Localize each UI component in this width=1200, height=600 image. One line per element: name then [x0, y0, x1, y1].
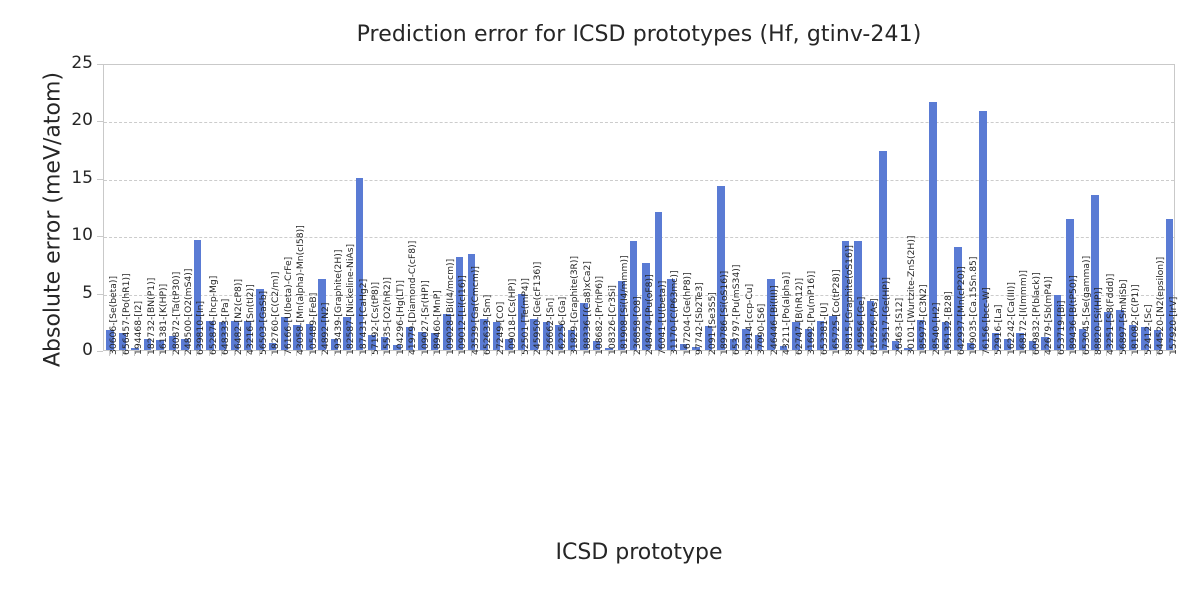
x-tick-mark	[421, 351, 422, 356]
x-tick-label: 189460-[MnP]	[433, 290, 442, 355]
x-tick-label: 161381-[K(HP)]	[159, 284, 168, 355]
x-tick-label: 30606-[Se(beta)]	[109, 276, 118, 355]
x-tick-label: 109028-[Bi(I4/mcm)]	[446, 259, 455, 355]
x-tick-mark	[633, 351, 634, 356]
x-tick-label: 88820-[Si(HP)]	[1094, 287, 1103, 355]
x-tick-label: 280872-[Ta(tP30)]	[172, 272, 181, 355]
y-tick-mark	[97, 351, 103, 352]
x-tick-mark	[196, 351, 197, 356]
x-tick-label: 26463-[S12]	[895, 298, 904, 355]
y-tick-label: 15	[33, 170, 93, 187]
x-tick-label: 653719-[Bi]	[1057, 301, 1066, 355]
x-tick-mark	[1019, 351, 1020, 356]
x-tick-label: 109027-[Sr(HP)]	[421, 280, 430, 355]
x-tick-mark	[122, 351, 123, 356]
x-tick-mark	[521, 351, 522, 356]
x-tick-mark	[496, 351, 497, 356]
x-tick-mark	[907, 351, 908, 356]
x-tick-mark	[483, 351, 484, 356]
x-axis-title: ICSD prototype	[103, 540, 1175, 565]
x-tick-mark	[620, 351, 621, 356]
x-tick-mark	[845, 351, 846, 356]
x-tick-mark	[259, 351, 260, 356]
x-tick-mark	[1169, 351, 1170, 356]
x-tick-mark	[708, 351, 709, 356]
x-tick-label: 248474-[Pu(oF8)]	[645, 274, 654, 355]
x-tick-label: 193439-[Graphite(2H)]	[334, 250, 343, 355]
x-tick-mark	[234, 351, 235, 356]
x-tick-mark	[770, 351, 771, 356]
x-tick-label: 642937-[Mn(cP20)]	[957, 266, 966, 355]
x-tick-mark	[396, 351, 397, 356]
x-tick-mark	[296, 351, 297, 356]
x-tick-label: 105489-[FeB]	[309, 293, 318, 355]
x-tick-mark	[608, 351, 609, 356]
x-tick-mark	[558, 351, 559, 356]
x-tick-label: 187431-[CaHg2]	[359, 279, 368, 355]
x-tick-mark	[857, 351, 858, 356]
x-tick-label: 88815-[Graphite(oS16)]	[845, 245, 854, 355]
x-tick-label: 56897-[SmNiSb]	[1119, 279, 1128, 355]
x-tick-mark	[683, 351, 684, 356]
x-tick-label: 31692-[Pu(mP16)]	[807, 271, 816, 355]
x-tick-label: 236662-[Sn]	[546, 298, 555, 355]
x-tick-label: 245950-[Ge(cF136)]	[533, 262, 542, 355]
x-tick-label: 28540-[H2]	[932, 303, 941, 355]
x-tick-mark	[334, 351, 335, 356]
x-tick-mark	[109, 351, 110, 356]
x-tick-label: 43539-[Ga(Cmcm)]	[471, 266, 480, 355]
x-tick-mark	[570, 351, 571, 356]
x-tick-mark	[795, 351, 796, 356]
x-tick-mark	[309, 351, 310, 356]
x-tick-mark	[1131, 351, 1132, 356]
x-tick-label: 108326-[Cr3Si]	[608, 285, 617, 355]
x-tick-mark	[508, 351, 509, 356]
x-tick-label: 62747-[B(hR12)]	[795, 278, 804, 355]
x-tick-mark	[446, 351, 447, 356]
x-tick-label: 43216-[Sn(tI2)]	[246, 284, 255, 355]
x-tick-mark	[184, 351, 185, 356]
x-tick-label: 52501-[Te(mP4)]	[521, 278, 530, 355]
x-tick-label: 27249-[CO]	[496, 302, 505, 355]
x-tick-label: 30101-[Wurtzite-ZnS(2H)]	[907, 236, 916, 356]
x-tick-mark	[1156, 351, 1157, 356]
x-tick-label: 182732-[BN(P1)]	[147, 278, 156, 355]
x-tick-mark	[172, 351, 173, 356]
x-tick-mark	[1007, 351, 1008, 356]
x-tick-label: 76041-[U(beta)]	[658, 281, 667, 355]
x-tick-label: 52412-[Sc]	[1144, 304, 1153, 355]
x-tick-label: 653045-[Se(gamma)]	[1082, 256, 1091, 355]
x-tick-mark	[408, 351, 409, 356]
x-tick-mark	[383, 351, 384, 356]
x-tick-label: 162242-[Ca(III)]	[1007, 282, 1016, 355]
x-tick-mark	[371, 351, 372, 356]
x-tick-label: 15535-[O2(hR2)]	[383, 277, 392, 355]
x-tick-label: 109018-[Cs(HP)]	[508, 279, 517, 355]
x-tick-mark	[732, 351, 733, 356]
x-tick-label: 43211-[Po(alpha)]	[782, 272, 791, 355]
x-tick-mark	[1106, 351, 1107, 356]
x-tick-label: 43058-[Mn(alpha)-Mn(cI58)]	[296, 225, 305, 355]
x-tick-mark	[895, 351, 896, 356]
y-tick-label: 5	[33, 285, 93, 302]
x-tick-label: 167204-[Ge(hP8)]	[683, 272, 692, 355]
x-tick-mark	[1069, 351, 1070, 356]
x-tick-mark	[359, 351, 360, 356]
x-tick-label: 165132-[B28]	[944, 291, 953, 355]
x-tick-label: 644520-[N2(epsilon)]	[1156, 257, 1165, 355]
y-axis-title: Absolute error (meV/atom)	[41, 50, 66, 390]
x-tick-mark	[882, 351, 883, 356]
x-tick-label: 246446-[Bi(III)]	[770, 285, 779, 355]
x-tick-mark	[221, 351, 222, 356]
x-tick-mark	[1094, 351, 1095, 356]
x-tick-label: 173517-[Ge(HP)]	[882, 277, 891, 355]
y-tick-label: 10	[33, 227, 93, 244]
x-tick-label: 157920-[IrV]	[1169, 297, 1178, 355]
x-tick-mark	[458, 351, 459, 356]
x-tick-mark	[695, 351, 696, 356]
x-tick-mark	[782, 351, 783, 356]
x-tick-mark	[745, 351, 746, 356]
x-tick-mark	[832, 351, 833, 356]
x-tick-label: 56503-[GaSb]	[259, 291, 268, 355]
x-tick-label: 181908-[Si(I4/mmm)]	[620, 255, 629, 355]
x-tick-label: 236858-[O8]	[633, 296, 642, 355]
x-tick-label: 652633-[Sm]	[483, 295, 492, 355]
x-tick-label: 26482-[N2(cP8)]	[234, 279, 243, 355]
x-tick-label: 31170-[C(P63mc)]	[670, 270, 679, 355]
x-tick-mark	[645, 351, 646, 356]
x-tick-mark	[595, 351, 596, 356]
x-tick-mark	[932, 351, 933, 356]
x-tick-mark	[134, 351, 135, 356]
x-tick-label: 181082-[C(P1)]	[1131, 284, 1140, 355]
x-tick-label: 656457-[Po(hR1)]	[122, 273, 131, 355]
x-tick-label: 24892-[N2]	[321, 303, 330, 355]
x-tick-label: 104296-[Hg(LT)]	[396, 280, 405, 355]
x-tick-mark	[1119, 351, 1120, 356]
x-tick-label: 76166-[U(beta)-CrFe]	[284, 257, 293, 355]
x-tick-label: 639810-[In]	[196, 301, 205, 355]
x-tick-mark	[870, 351, 871, 356]
x-tick-mark	[982, 351, 983, 356]
x-tick-label: 168172-[I(Immm)]	[1019, 270, 1028, 355]
x-tick-label: 109035-[Ca.15Sn.85]	[969, 257, 978, 355]
x-tick-mark	[147, 351, 148, 356]
x-tick-mark	[246, 351, 247, 356]
x-tick-label: 182587-[Nickeline-NiAs]	[346, 244, 355, 355]
x-tick-mark	[820, 351, 821, 356]
x-tick-label: 653797-[Pu(mS34)]	[732, 265, 741, 355]
y-tick-label: 20	[33, 112, 93, 129]
x-tick-mark	[471, 351, 472, 356]
x-tick-label: 108682-[Pr(hP6)]	[595, 276, 604, 355]
y-tick-label: 25	[33, 55, 93, 72]
x-tick-label: 2091-[Se3S5]	[708, 292, 717, 355]
x-tick-mark	[919, 351, 920, 356]
x-tick-label: 609832-[P(black)]	[1032, 272, 1041, 355]
x-tick-label: 185973-[C3N2]	[919, 284, 928, 355]
x-tick-label: 194468-[I2]	[134, 301, 143, 355]
y-tick-label: 0	[33, 342, 93, 359]
x-tick-mark	[583, 351, 584, 356]
x-tick-label: 162256-[Ga]	[558, 297, 567, 355]
x-tick-mark	[1032, 351, 1033, 356]
x-tick-mark	[1044, 351, 1045, 356]
x-tick-label: 52916-[La]	[994, 305, 1003, 355]
x-tick-mark	[944, 351, 945, 356]
x-tick-label: 76156-[bcc-W]	[982, 287, 991, 355]
x-tick-mark	[321, 351, 322, 356]
x-tick-mark	[546, 351, 547, 356]
x-tick-mark	[271, 351, 272, 356]
x-tick-label: 248500-[O2(mS4)]	[184, 269, 193, 355]
chart-title: Prediction error for ICSD prototypes (Hf…	[103, 22, 1175, 47]
x-tick-label: 188336-[(Ca8)xCa2]	[583, 261, 592, 355]
x-tick-label: 97742-[Sb2Te3]	[695, 282, 704, 355]
x-tick-mark	[957, 351, 958, 356]
x-tick-mark	[757, 351, 758, 356]
x-tick-mark	[994, 351, 995, 356]
x-tick-label: 189436-[B(tP50)]	[1069, 275, 1078, 355]
x-tick-mark	[159, 351, 160, 356]
x-tick-label: 165725-[Co(tP28)]	[832, 269, 841, 355]
x-tick-label: 245956-[Ge]	[857, 297, 866, 355]
x-tick-mark	[720, 351, 721, 356]
x-tick-mark	[433, 351, 434, 356]
x-tick-label: 182760-[C(C2/m)]	[271, 272, 280, 355]
x-tick-label: 31829-[Graphite(3R)]	[570, 256, 579, 355]
x-tick-label: 189786-[Si(oS16)]	[720, 271, 729, 355]
x-tick-label: 52914-[ccp-Cu]	[745, 284, 754, 355]
x-tick-mark	[670, 351, 671, 356]
x-tick-mark	[1144, 351, 1145, 356]
x-tick-mark	[533, 351, 534, 356]
x-tick-mark	[1057, 351, 1058, 356]
x-tick-mark	[1082, 351, 1083, 356]
x-tick-label: 652876-[hcp-Mg]	[209, 276, 218, 355]
x-tick-label: 653381-[U]	[820, 303, 829, 355]
x-tick-mark	[658, 351, 659, 356]
x-tick-mark	[807, 351, 808, 356]
x-tick-label: 57192-[Cs(tP8)]	[371, 282, 380, 355]
x-tick-label: 109012-[Li(cI16)]	[458, 275, 467, 355]
x-tick-mark	[346, 351, 347, 356]
x-tick-mark	[284, 351, 285, 356]
x-tick-label: 43251-[S8(Fddd)]	[1106, 274, 1115, 355]
x-tick-label: 41979-[Diamond-C(cF8)]	[408, 241, 417, 355]
x-tick-label: 648333-[Pa]	[221, 299, 230, 355]
x-tick-label: 616526-[As]	[870, 298, 879, 355]
x-tick-label: 37090-[S6]	[757, 304, 766, 355]
bar-chart-figure: Prediction error for ICSD prototypes (Hf…	[0, 0, 1200, 600]
x-tick-mark	[209, 351, 210, 356]
x-tick-mark	[969, 351, 970, 356]
x-tick-label: 42679-[Sb(mP4)]	[1044, 276, 1053, 355]
